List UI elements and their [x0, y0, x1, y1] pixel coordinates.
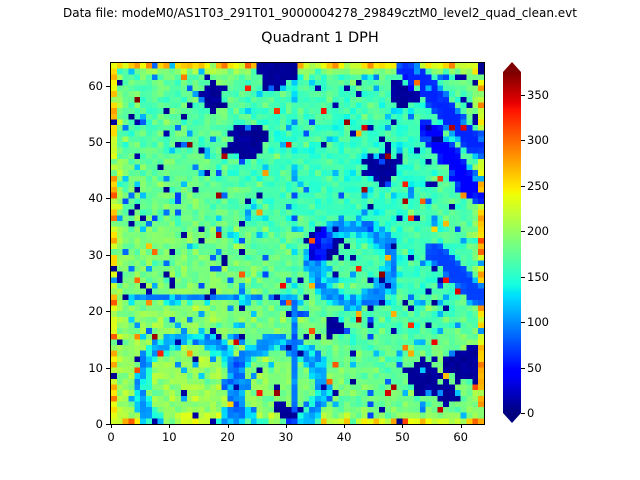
y-tick-label: 50 — [88, 135, 103, 149]
colorbar-tick-label: 250 — [527, 179, 549, 193]
colorbar-extend-max-arrow-icon — [503, 62, 521, 72]
colorbar-canvas — [503, 72, 521, 413]
colorbar-tick-label: 100 — [527, 315, 549, 329]
colorbar-tick-mark — [521, 413, 525, 414]
colorbar-tick-label: 0 — [527, 406, 534, 420]
colorbar-gradient — [503, 72, 521, 413]
y-tick-mark — [106, 198, 110, 199]
plot-title: Quadrant 1 DPH — [0, 30, 640, 46]
colorbar-tick-mark — [521, 277, 525, 278]
colorbar-tick-label: 300 — [527, 133, 549, 147]
x-tick-label: 40 — [337, 430, 352, 444]
y-tick-mark — [106, 311, 110, 312]
data-file-caption: Data file: modeM0/AS1T03_291T01_90000042… — [0, 6, 640, 20]
heatmap-axes — [110, 62, 485, 425]
x-tick-mark — [228, 424, 229, 428]
x-tick-label: 20 — [220, 430, 235, 444]
colorbar-extend-min-arrow-icon — [503, 413, 521, 423]
x-tick-mark — [402, 424, 403, 428]
x-tick-label: 10 — [162, 430, 177, 444]
y-tick-mark — [106, 368, 110, 369]
colorbar-tick-label: 200 — [527, 224, 549, 238]
y-tick-label: 0 — [96, 417, 103, 431]
y-tick-label: 10 — [88, 361, 103, 375]
y-tick-label: 40 — [88, 191, 103, 205]
y-tick-mark — [106, 424, 110, 425]
x-tick-label: 60 — [453, 430, 468, 444]
heatmap-image — [111, 63, 484, 424]
colorbar-tick-mark — [521, 186, 525, 187]
x-tick-label: 0 — [107, 430, 114, 444]
y-tick-mark — [106, 255, 110, 256]
y-tick-label: 30 — [88, 248, 103, 262]
colorbar-tick-mark — [521, 231, 525, 232]
colorbar-tick-mark — [521, 322, 525, 323]
y-tick-mark — [106, 86, 110, 87]
colorbar-tick-mark — [521, 140, 525, 141]
y-tick-label: 60 — [88, 79, 103, 93]
colorbar — [503, 62, 521, 423]
x-tick-mark — [461, 424, 462, 428]
colorbar-tick-label: 150 — [527, 270, 549, 284]
x-tick-mark — [344, 424, 345, 428]
x-tick-mark — [169, 424, 170, 428]
y-tick-mark — [106, 142, 110, 143]
x-tick-mark — [286, 424, 287, 428]
x-tick-mark — [111, 424, 112, 428]
x-tick-label: 50 — [395, 430, 410, 444]
matplotlib-figure: Data file: modeM0/AS1T03_291T01_90000042… — [0, 0, 640, 480]
x-tick-label: 30 — [279, 430, 294, 444]
colorbar-tick-label: 50 — [527, 361, 542, 375]
colorbar-tick-mark — [521, 368, 525, 369]
colorbar-tick-mark — [521, 95, 525, 96]
colorbar-tick-label: 350 — [527, 88, 549, 102]
y-tick-label: 20 — [88, 304, 103, 318]
